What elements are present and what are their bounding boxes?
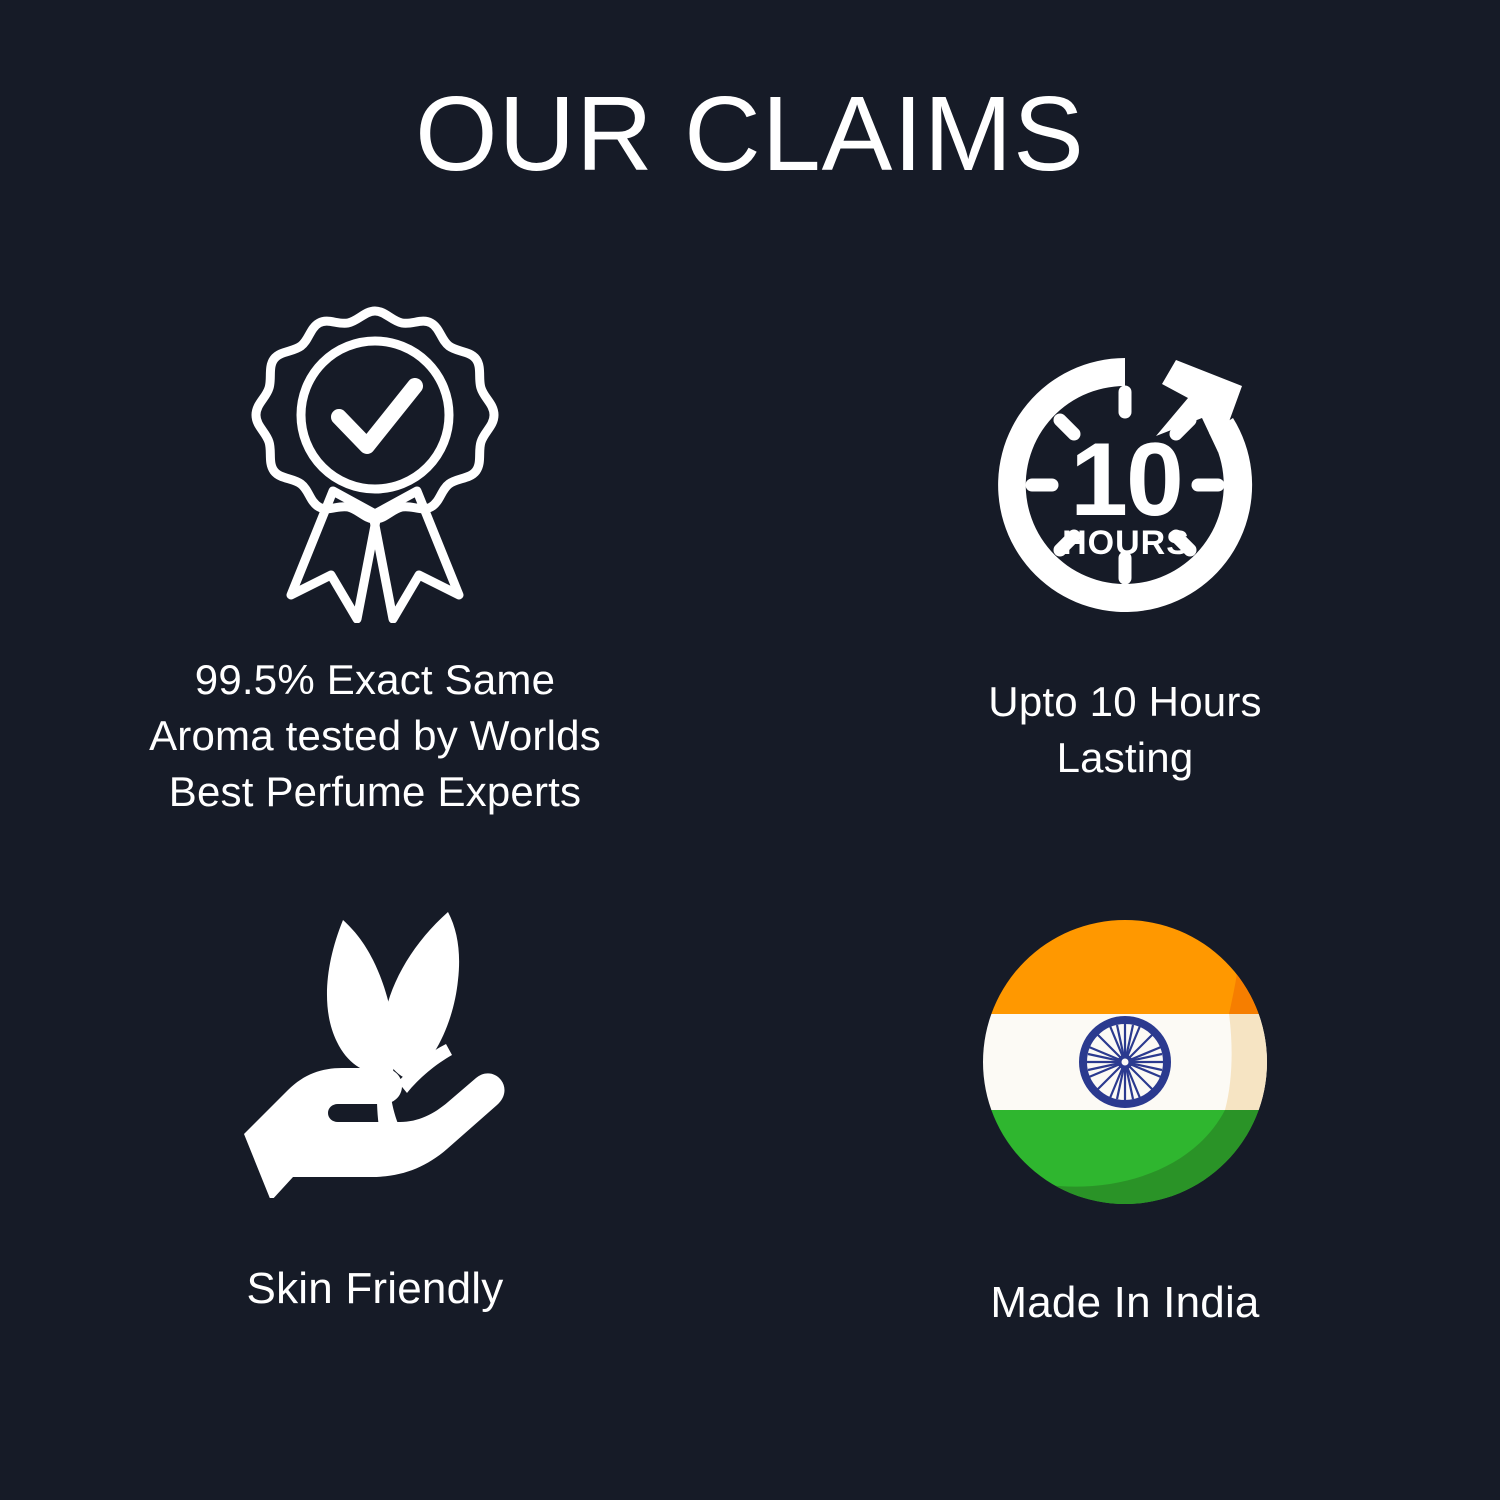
our-claims-graphic: OUR CLAIMS	[0, 0, 1500, 1500]
claim-icon-wrap	[981, 912, 1269, 1212]
claim-label-skin-friendly: Skin Friendly	[247, 1260, 504, 1319]
page-title: OUR CLAIMS	[0, 76, 1500, 193]
claim-item-made-in-india: Made In India	[750, 860, 1500, 1440]
clock-arrow-10-hours-icon: 10 HOURS	[980, 340, 1270, 630]
award-badge-check-icon	[245, 303, 505, 623]
claim-icon-wrap	[230, 898, 520, 1198]
claim-icon-wrap: 10 HOURS	[980, 320, 1270, 650]
hand-holding-plant-icon	[230, 898, 520, 1198]
ashoka-chakra-icon	[1083, 1020, 1167, 1104]
claim-label-long-lasting: Upto 10 Hours Lasting	[988, 674, 1261, 786]
clock-unit-label: HOURS	[1062, 524, 1190, 562]
claim-icon-wrap	[245, 298, 505, 628]
claim-label-made-in-india: Made In India	[990, 1274, 1259, 1333]
claim-item-long-lasting: 10 HOURS Upto 10 Hours Lasting	[750, 280, 1500, 860]
claim-item-aroma-accuracy: 99.5% Exact Same Aroma tested by Worlds …	[0, 280, 750, 860]
claim-item-skin-friendly: Skin Friendly	[0, 860, 750, 1440]
claim-label-aroma-accuracy: 99.5% Exact Same Aroma tested by Worlds …	[149, 652, 601, 820]
claims-grid: 99.5% Exact Same Aroma tested by Worlds …	[0, 280, 1500, 1440]
india-flag-circle-icon	[981, 918, 1269, 1206]
clock-number-label: 10	[1070, 422, 1182, 538]
